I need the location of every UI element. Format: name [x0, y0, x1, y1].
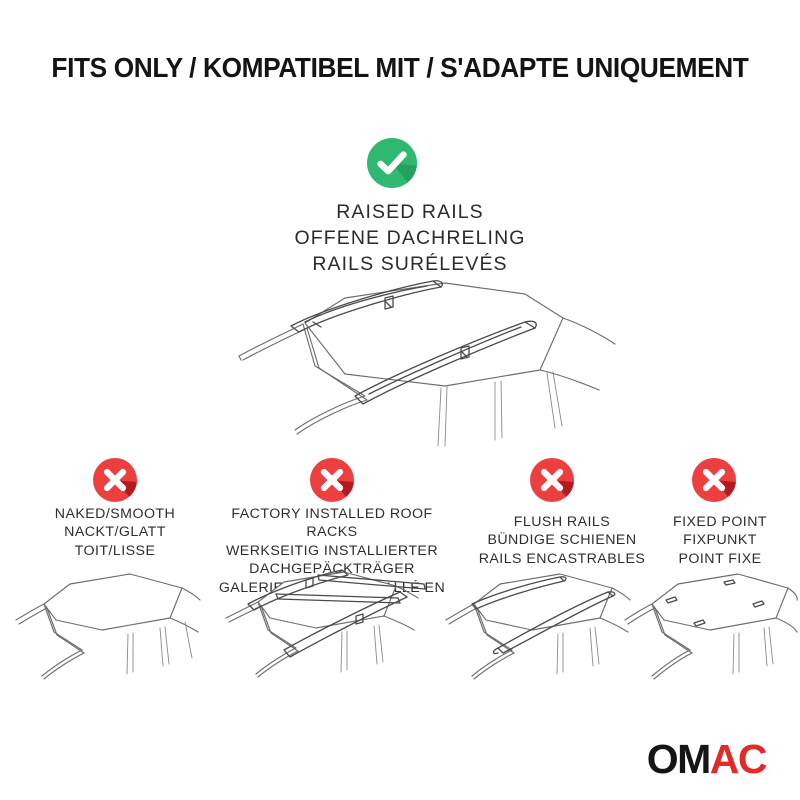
red-cross-icon-flush-rails	[530, 458, 574, 502]
page-title: FITS ONLY / KOMPATIBEL MIT / S'ADAPTE UN…	[51, 52, 748, 84]
naked-smooth-line-fr: TOIT/LISSE	[25, 542, 205, 560]
naked-smooth-line-en: NAKED/SMOOTH	[25, 505, 205, 523]
fixed-point-caption: FIXED POINT FIXPUNKT POINT FIXE	[640, 513, 800, 568]
naked-smooth-line-de: NACKT/GLATT	[25, 523, 205, 541]
flush-rails-caption: FLUSH RAILS BÜNDIGE SCHIENEN RAILS ENCAS…	[462, 513, 662, 568]
fixed-point-line-de: FIXPUNKT	[640, 531, 800, 549]
omac-logo-dark-part: OM	[647, 736, 710, 782]
compatible-line-de: OFFENE DACHRELING	[230, 226, 590, 252]
car-roof-factory-roof-racks-illustration	[218, 556, 433, 686]
car-roof-naked-smooth-illustration	[10, 566, 200, 686]
flush-rails-line-en: FLUSH RAILS	[462, 513, 662, 531]
naked-smooth-caption: NAKED/SMOOTH NACKT/GLATT TOIT/LISSE	[25, 505, 205, 560]
car-roof-fixed-point-illustration	[622, 566, 797, 686]
car-roof-flush-rails-illustration	[438, 566, 633, 686]
compatible-line-en: RAISED RAILS	[230, 200, 590, 226]
compatible-line-fr: RAILS SURÉLEVÉS	[230, 252, 590, 278]
compatible-caption: RAISED RAILS OFFENE DACHRELING RAILS SUR…	[230, 200, 590, 278]
omac-logo: OMAC	[647, 739, 766, 780]
omac-logo-accent-part: AC	[710, 736, 766, 782]
fixed-point-line-en: FIXED POINT	[640, 513, 800, 531]
red-cross-icon-naked-smooth	[93, 458, 137, 502]
car-roof-with-raised-rails-illustration	[195, 278, 625, 448]
red-cross-icon-fixed-point	[692, 458, 736, 502]
factory-racks-line-en: FACTORY INSTALLED ROOF RACKS	[205, 505, 459, 542]
title-bar: FITS ONLY / KOMPATIBEL MIT / S'ADAPTE UN…	[0, 52, 800, 84]
flush-rails-line-de: BÜNDIGE SCHIENEN	[462, 531, 662, 549]
red-cross-icon-factory-racks	[310, 458, 354, 502]
green-check-icon	[367, 138, 417, 188]
